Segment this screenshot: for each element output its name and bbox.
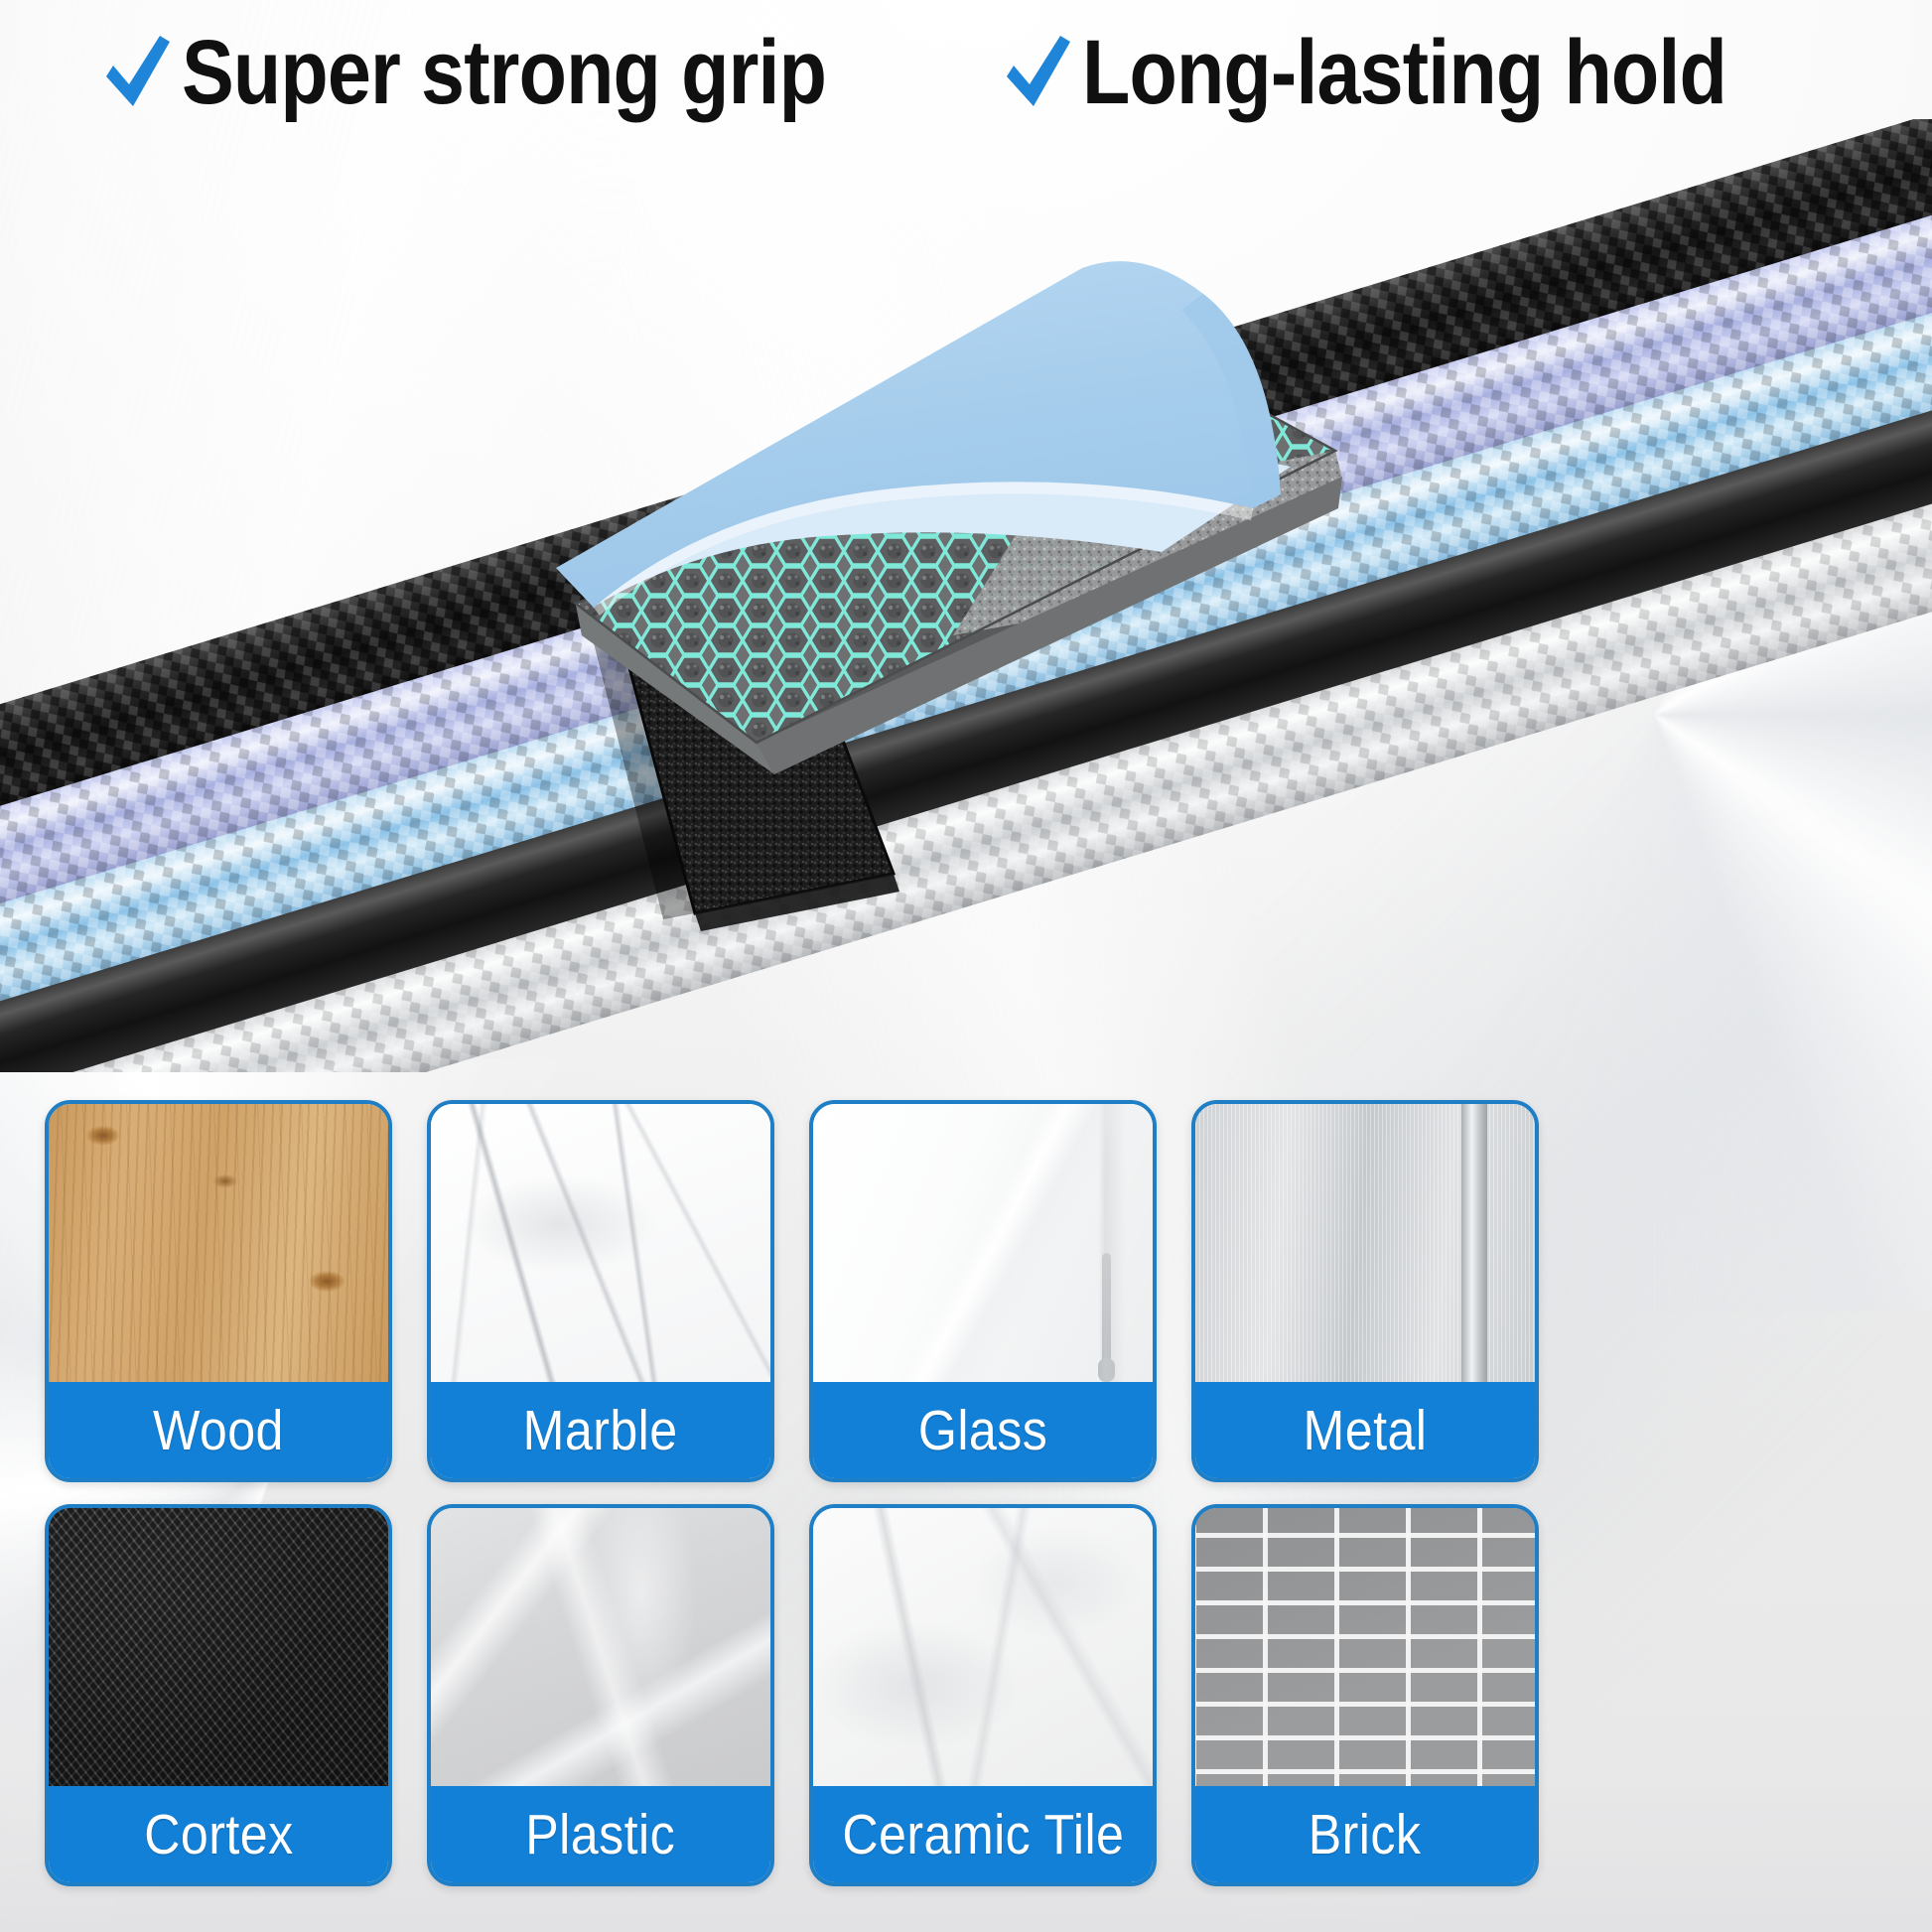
check-icon	[100, 33, 174, 112]
check-icon	[1001, 33, 1074, 112]
surface-label-wood: Wood	[49, 1382, 388, 1478]
headline-item-1: Super strong grip	[100, 27, 931, 118]
surface-tile-glass[interactable]: Glass	[809, 1100, 1157, 1482]
glass-texture	[813, 1104, 1153, 1390]
leather-texture	[49, 1508, 388, 1794]
surface-tile-marble[interactable]: Marble	[427, 1100, 774, 1482]
hero-illustration	[0, 119, 1932, 1072]
surface-label-cortex: Cortex	[49, 1786, 388, 1882]
surface-label-text: Marble	[523, 1398, 678, 1463]
surface-tile-wood[interactable]: Wood	[45, 1100, 392, 1482]
headline-row: Super strong grip Long-lasting hold	[0, 14, 1932, 131]
surface-label-marble: Marble	[431, 1382, 770, 1478]
plastic-texture	[431, 1508, 770, 1794]
surface-label-text: Glass	[918, 1398, 1047, 1463]
wood-texture	[49, 1104, 388, 1390]
surface-tile-ceramic-tile[interactable]: Ceramic Tile	[809, 1504, 1157, 1886]
surface-label-text: Brick	[1309, 1802, 1422, 1867]
surface-tile-metal[interactable]: Metal	[1191, 1100, 1539, 1482]
headline-item-2: Long-lasting hold	[1001, 27, 1832, 118]
surface-label-text: Wood	[153, 1398, 284, 1463]
surface-label-text: Ceramic Tile	[842, 1802, 1124, 1867]
marble-texture	[431, 1104, 770, 1390]
surface-label-metal: Metal	[1195, 1382, 1535, 1478]
surface-label-glass: Glass	[813, 1382, 1153, 1478]
surface-label-brick: Brick	[1195, 1786, 1535, 1882]
surface-label-text: Cortex	[144, 1802, 293, 1867]
headline-text-2: Long-lasting hold	[1082, 27, 1726, 118]
product-feature-image: Super strong grip Long-lasting hold Wood…	[0, 0, 1932, 1932]
surface-label-plastic: Plastic	[431, 1786, 770, 1882]
metal-texture	[1195, 1104, 1535, 1390]
surface-tile-plastic[interactable]: Plastic	[427, 1504, 774, 1886]
compatible-surfaces-grid: Wood Marble Glass Metal	[45, 1100, 1891, 1886]
ceramic-tile-texture	[813, 1508, 1153, 1794]
surface-tile-cortex[interactable]: Cortex	[45, 1504, 392, 1886]
surface-label-text: Metal	[1304, 1398, 1428, 1463]
surface-label-ceramic-tile: Ceramic Tile	[813, 1786, 1153, 1882]
surface-tile-brick[interactable]: Brick	[1191, 1504, 1539, 1886]
brick-texture	[1195, 1508, 1535, 1794]
headline-text-1: Super strong grip	[182, 27, 826, 118]
surface-label-text: Plastic	[526, 1802, 676, 1867]
